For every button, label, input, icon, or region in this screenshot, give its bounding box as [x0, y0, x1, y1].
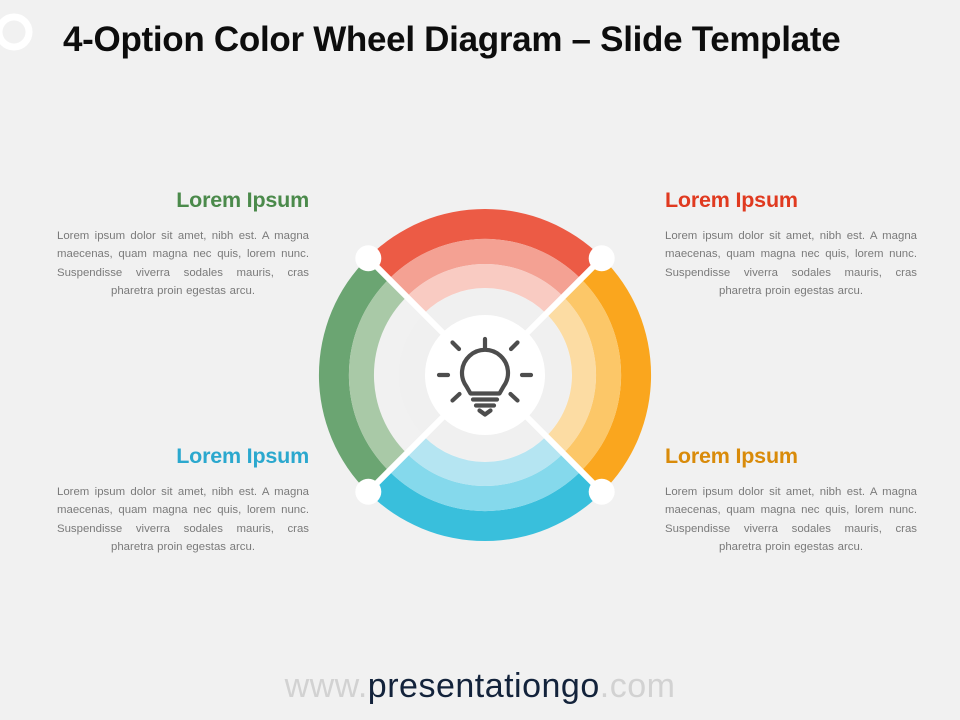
color-wheel-diagram [318, 208, 652, 542]
connector-dot-nw[interactable] [355, 245, 381, 271]
footer-url: www.presentationgo.com [0, 667, 960, 706]
option-heading-bottom-left: Lorem Ipsum [57, 444, 309, 470]
option-block-top-right: Lorem Ipsum Lorem ipsum dolor sit amet, … [665, 188, 917, 301]
footer-url-prefix: www. [285, 667, 368, 705]
page-title: 4-Option Color Wheel Diagram – Slide Tem… [63, 18, 953, 63]
footer-url-brand: presentationgo [368, 667, 600, 705]
connector-dot-ne[interactable] [589, 245, 615, 271]
option-heading-top-right: Lorem Ipsum [665, 188, 917, 214]
option-body-bottom-right: Lorem ipsum dolor sit amet, nibh est. A … [665, 483, 917, 557]
footer-url-suffix: .com [600, 667, 676, 705]
option-body-top-right: Lorem ipsum dolor sit amet, nibh est. A … [665, 227, 917, 301]
option-block-top-left: Lorem Ipsum Lorem ipsum dolor sit amet, … [57, 188, 309, 301]
connector-dot-sw[interactable] [355, 479, 381, 505]
option-heading-top-left: Lorem Ipsum [57, 188, 309, 214]
connector-dot-se[interactable] [589, 479, 615, 505]
option-block-bottom-left: Lorem Ipsum Lorem ipsum dolor sit amet, … [57, 444, 309, 557]
option-heading-bottom-right: Lorem Ipsum [665, 444, 917, 470]
option-block-bottom-right: Lorem Ipsum Lorem ipsum dolor sit amet, … [665, 444, 917, 557]
color-wheel-svg [318, 208, 652, 542]
option-body-bottom-left: Lorem ipsum dolor sit amet, nibh est. A … [57, 483, 309, 557]
option-body-top-left: Lorem ipsum dolor sit amet, nibh est. A … [57, 227, 309, 301]
presentationgo-logo-watermark [0, 6, 42, 58]
